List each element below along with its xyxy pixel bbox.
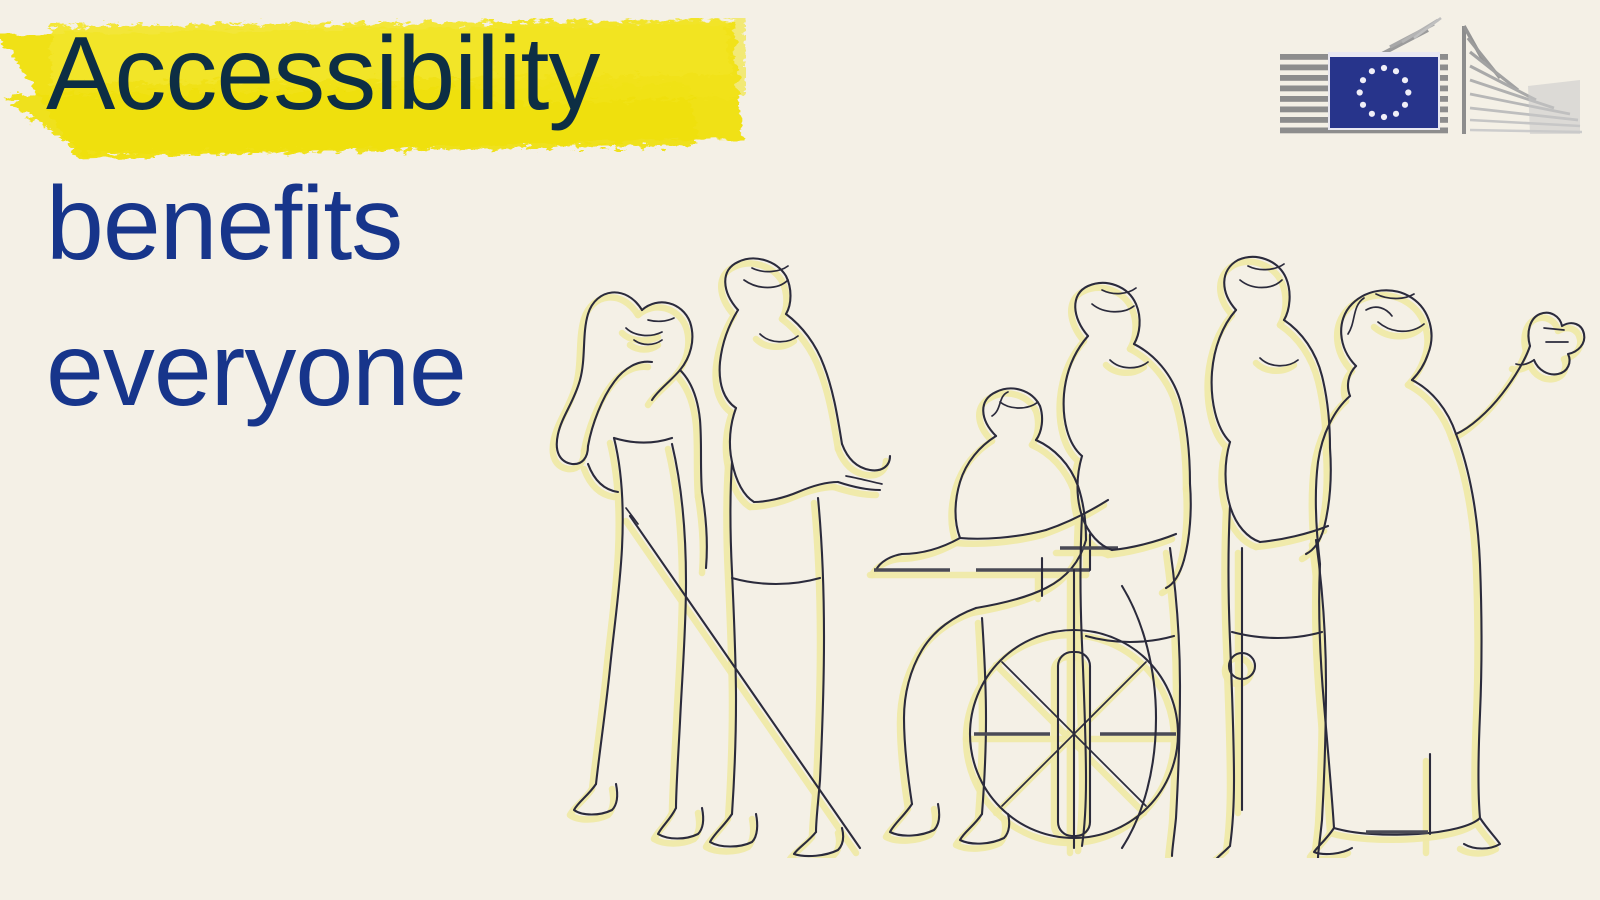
white-cane (626, 508, 860, 848)
poster-canvas: Accessibility benefits everyone (0, 0, 1600, 900)
headline-line-accessibility: Accessibility (46, 22, 599, 126)
headline-line-everyone: everyone (46, 318, 466, 422)
headline-block: Accessibility benefits everyone (0, 0, 820, 460)
logo-fan-icon (1463, 24, 1582, 136)
european-commission-logo (1278, 14, 1588, 150)
headline-line-benefits: benefits (46, 172, 402, 276)
figure-woman-raised-hand (1314, 290, 1584, 854)
eu-flag-icon (1328, 52, 1440, 130)
